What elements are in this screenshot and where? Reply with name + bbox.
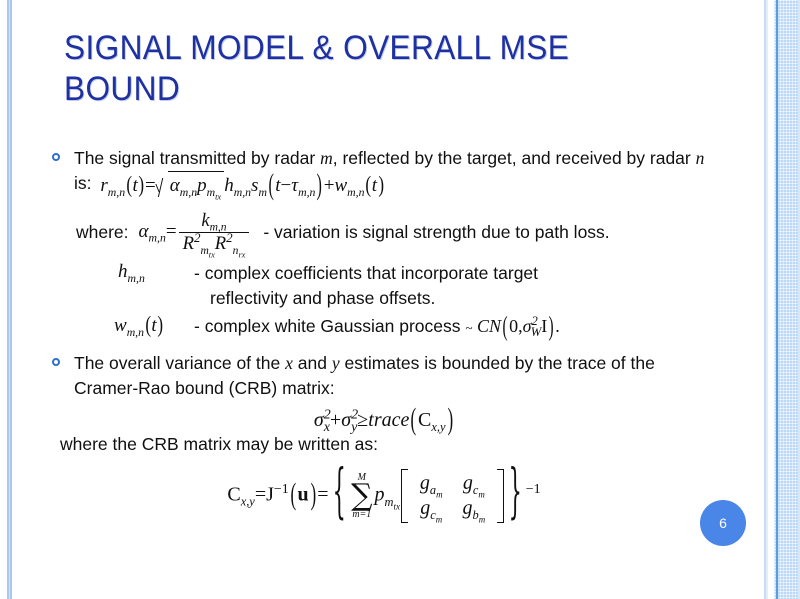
alpha-denominator: R2mtxR2nrx bbox=[179, 232, 250, 255]
crb-g-22: g bbox=[463, 497, 473, 519]
h-description-line1: - complex coefficients that incorporate … bbox=[194, 263, 538, 283]
eqn-h-sub: m,n bbox=[234, 186, 251, 199]
alpha-den-exp2: 2 bbox=[226, 230, 233, 245]
w-dist-period: . bbox=[555, 316, 560, 336]
alpha-num-sub: m,n bbox=[210, 222, 227, 234]
alpha-fraction: km,nR2mtxR2nrx bbox=[179, 210, 250, 255]
w-symbol-math: wm,n(t) bbox=[76, 315, 194, 337]
slide: Signal Model & Overall MSE Bound The sig… bbox=[0, 0, 800, 599]
crb-p: p bbox=[375, 484, 385, 506]
h-symbol: h bbox=[118, 261, 128, 282]
crb-brace-open: { bbox=[332, 459, 345, 527]
h-description-line2: reflectivity and phase offsets. bbox=[194, 286, 435, 311]
eqn-paren3-close: ) bbox=[378, 171, 384, 201]
alpha-equals: = bbox=[166, 221, 177, 242]
bullet-marker-icon bbox=[52, 153, 60, 161]
eqn-alpha-sub: m,n bbox=[180, 186, 197, 199]
crb-g-12-sub: cm bbox=[473, 483, 485, 497]
alpha-den-sub1: mtx bbox=[200, 245, 214, 257]
crb-g-22-sub: bm bbox=[473, 508, 486, 522]
alpha-num-k: k bbox=[201, 210, 209, 231]
bullet-item-signal-model: The signal transmitted by radar m, refle… bbox=[48, 146, 720, 198]
equation-crb-matrix: Cx,y=J−1(u)={M∑m=1pmtxgamgcmgcmgbm}−1 bbox=[48, 469, 720, 523]
bullet-marker-icon-2 bbox=[52, 358, 60, 366]
crb-equals-2: = bbox=[317, 484, 328, 506]
eqn-tau-sub: m,n bbox=[298, 186, 315, 199]
bullet-1-text-before: The signal transmitted by radar bbox=[74, 148, 315, 168]
crb-J: J bbox=[266, 484, 274, 506]
crb-g-11-sub: am bbox=[430, 483, 443, 497]
crb-outer-exp: −1 bbox=[526, 482, 541, 497]
page-number-badge: 6 bbox=[700, 500, 746, 546]
bullet-2-text-and: and bbox=[298, 353, 327, 373]
slide-title: Signal Model & Overall MSE Bound bbox=[64, 28, 641, 110]
crb-matrix-cell-12: gcm bbox=[453, 471, 496, 496]
crb-g-22-subsub-m: m bbox=[479, 514, 485, 524]
w-paren-open: ( bbox=[145, 313, 151, 339]
bullet-2-var-y: y bbox=[332, 353, 340, 373]
crb-equals-1: = bbox=[255, 484, 266, 506]
eqn-plus: + bbox=[324, 175, 335, 196]
bullet-1-text-mid: , reflected by the target, and received … bbox=[333, 148, 691, 168]
bullet-1-var-n: n bbox=[696, 148, 705, 168]
w-dist-sub: W bbox=[531, 325, 542, 339]
crb-brace-close: } bbox=[509, 459, 522, 527]
w-arg: t bbox=[151, 315, 156, 336]
alpha-den-R1: R bbox=[183, 233, 194, 254]
alpha-sub: m,n bbox=[149, 232, 166, 245]
w-paren-close: ) bbox=[157, 313, 163, 339]
w-dist-mean: 0, bbox=[509, 316, 523, 336]
trace-paren-open: ( bbox=[411, 403, 417, 439]
eqn-minus: − bbox=[281, 175, 292, 196]
h-description: - complex coefficients that incorporate … bbox=[194, 261, 538, 311]
eqn-s-sub: m bbox=[258, 186, 267, 199]
right-border-accent-line bbox=[776, 0, 778, 599]
definition-h-row: hm,n - complex coefficients that incorpo… bbox=[48, 261, 720, 311]
w-dist-cn: CN bbox=[477, 316, 501, 336]
trace-C-sub: x,y bbox=[431, 420, 445, 434]
crb-where-label: where the CRB matrix may be written as: bbox=[48, 434, 720, 455]
w-sub: m,n bbox=[127, 326, 144, 339]
equation-signal-model: rm,n(t)=αm,npmtxhm,nsm(t−τm,n)+wm,n(t) bbox=[100, 171, 384, 198]
bullet-1-text-after: is: bbox=[74, 173, 92, 193]
alpha-den-R2: R bbox=[215, 233, 226, 254]
equation-alpha-definition: αm,n=km,nR2mtxR2nrx bbox=[139, 210, 252, 255]
eqn-equals: = bbox=[145, 175, 156, 196]
w-dist-paren-open: ( bbox=[503, 310, 508, 343]
eqn-t: t bbox=[132, 175, 137, 196]
eqn-w-sub: m,n bbox=[347, 186, 364, 199]
trace-plus: + bbox=[330, 409, 341, 431]
crb-u-paren-close: ) bbox=[310, 477, 316, 513]
w-distribution: ~ CN(0,σ2WI). bbox=[466, 316, 560, 337]
crb-C: C bbox=[227, 484, 240, 506]
trace-sigma-x: σ bbox=[314, 409, 324, 431]
alpha-numerator: km,n bbox=[179, 210, 250, 232]
eqn-p: p bbox=[197, 175, 207, 196]
crb-matrix-cell-21: gcm bbox=[410, 496, 453, 521]
crb-C-sub: x,y bbox=[241, 495, 255, 509]
crb-J-exp: −1 bbox=[274, 482, 289, 497]
w-dist-tilde: ~ bbox=[466, 320, 473, 335]
eqn-r: r bbox=[100, 175, 107, 196]
eqn-t3: t bbox=[372, 175, 377, 196]
eqn-paren3-open: ( bbox=[365, 171, 371, 201]
eqn-p-sub-m: m bbox=[207, 186, 216, 199]
w-dist-paren-close: ) bbox=[549, 310, 554, 343]
bullet-2-var-x: x bbox=[285, 353, 293, 373]
equation-trace-bound: σ2x+σ2y≥trace(Cx,y) bbox=[48, 409, 720, 432]
trace-sigma-y: σ bbox=[341, 409, 351, 431]
eqn-paren-open: ( bbox=[126, 171, 132, 201]
where-label: where: bbox=[76, 222, 129, 243]
crb-u-paren-open: ( bbox=[290, 477, 296, 513]
crb-matrix-cell-11: gam bbox=[410, 471, 453, 496]
crb-g-21: g bbox=[420, 497, 430, 519]
crb-g-21-subsub-m: m bbox=[436, 514, 442, 524]
crb-where-text: where the CRB matrix may be written as: bbox=[60, 434, 378, 454]
eqn-sqrt: αm,npmtx bbox=[157, 171, 224, 198]
w-description: - complex white Gaussian process bbox=[194, 316, 461, 337]
eqn-p-sub: mtx bbox=[207, 186, 222, 199]
alpha-den-sub1-m: m bbox=[200, 245, 208, 257]
bullet-2-text-before: The overall variance of the bbox=[74, 353, 280, 373]
eqn-h: h bbox=[224, 175, 234, 196]
crb-brace-group: {M∑m=1pmtxgamgcmgcmgbm}−1 bbox=[329, 469, 541, 523]
eqn-paren-close: ) bbox=[139, 171, 145, 201]
eqn-r-sub: m,n bbox=[108, 186, 125, 199]
eqn-w: w bbox=[334, 175, 347, 196]
eqn-paren2-open: ( bbox=[268, 166, 273, 205]
crb-g-12: g bbox=[463, 472, 473, 494]
crb-sum-symbol: ∑ bbox=[351, 483, 372, 509]
definition-alpha-row: where: αm,n=km,nR2mtxR2nrx - variation i… bbox=[48, 210, 720, 255]
crb-g-21-sub: cm bbox=[430, 508, 442, 522]
crb-g-matrix: gamgcmgcmgbm bbox=[401, 469, 504, 523]
crb-summation: M∑m=1 bbox=[351, 472, 372, 520]
trace-paren-close: ) bbox=[447, 403, 453, 439]
alpha-den-subsub2-rx: rx bbox=[238, 250, 245, 259]
crb-u: u bbox=[297, 484, 308, 506]
w-dist-identity: I bbox=[541, 316, 547, 336]
eqn-p-subsub-tx: tx bbox=[215, 191, 221, 201]
right-border-thin-stripe bbox=[764, 0, 768, 599]
eqn-paren2-close: ) bbox=[317, 166, 322, 205]
bullet-1-var-m: m bbox=[320, 148, 333, 168]
alpha-den-sub2: nrx bbox=[233, 245, 246, 257]
eqn-radicand: αm,npmtx bbox=[168, 171, 224, 198]
bullet-item-crb: The overall variance of the x and y esti… bbox=[48, 351, 720, 401]
alpha-symbol: α bbox=[139, 221, 149, 242]
crb-p-sub: mtx bbox=[385, 495, 400, 509]
crb-sum-lower: m=1 bbox=[351, 509, 372, 520]
w-symbol: w bbox=[114, 315, 127, 336]
crb-p-subsub-tx: tx bbox=[393, 501, 399, 511]
slide-body: The signal transmitted by radar m, refle… bbox=[48, 146, 720, 523]
trace-geq: ≥ bbox=[357, 409, 368, 431]
h-sub: m,n bbox=[128, 272, 145, 285]
alpha-description: - variation is signal strength due to pa… bbox=[263, 222, 609, 243]
eqn-alpha: α bbox=[170, 175, 180, 196]
left-border-decoration bbox=[6, 0, 13, 599]
alpha-den-exp1: 2 bbox=[194, 230, 201, 245]
trace-C: C bbox=[418, 409, 431, 431]
h-symbol-math: hm,n bbox=[76, 261, 194, 283]
crb-g-11: g bbox=[420, 472, 430, 494]
crb-matrix-cell-22: gbm bbox=[453, 496, 496, 521]
definition-w-row: wm,n(t) - complex white Gaussian process… bbox=[48, 315, 720, 337]
trace-operator: trace bbox=[368, 409, 409, 431]
